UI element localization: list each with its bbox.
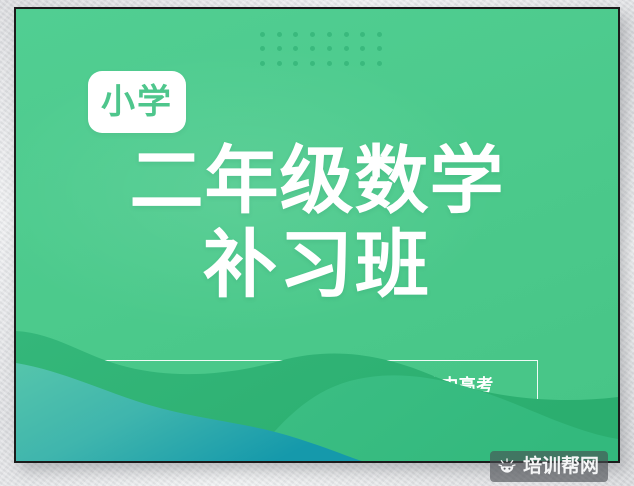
grid-dot xyxy=(260,32,265,37)
grid-dot xyxy=(377,32,382,37)
level-badge-label: 小学 xyxy=(101,85,173,119)
grid-dot xyxy=(360,46,365,51)
grid-dot xyxy=(310,32,315,37)
grid-dot xyxy=(377,61,382,66)
grid-dot xyxy=(327,61,332,66)
dot-grid-decoration xyxy=(254,27,388,71)
grid-dot xyxy=(260,46,265,51)
watermark: 培训帮网 xyxy=(490,451,608,482)
headline-line-1: 二年级数学 xyxy=(16,143,618,218)
grid-dot xyxy=(277,46,282,51)
grid-dot xyxy=(360,32,365,37)
grid-dot xyxy=(293,46,298,51)
grid-dot xyxy=(260,61,265,66)
grid-dot xyxy=(327,32,332,37)
watermark-text: 培训帮网 xyxy=(523,457,599,476)
grid-dot xyxy=(310,46,315,51)
grid-dot xyxy=(277,32,282,37)
sun-face-icon xyxy=(497,457,517,477)
level-badge: 小学 xyxy=(88,71,186,133)
grid-dot xyxy=(360,61,365,66)
grid-dot xyxy=(277,61,282,66)
poster-frame: 小学 二年级数学 补习班 本地优质师资匹配 教研专注中高考 xyxy=(14,7,620,463)
grid-dot xyxy=(310,61,315,66)
grid-dot xyxy=(327,46,332,51)
grid-dot xyxy=(377,46,382,51)
headline-line-2: 补习班 xyxy=(16,222,618,307)
poster-canvas: 小学 二年级数学 补习班 本地优质师资匹配 教研专注中高考 xyxy=(16,9,618,461)
wave-decoration xyxy=(16,331,618,461)
grid-dot xyxy=(344,32,349,37)
grid-dot xyxy=(344,61,349,66)
page-title: 二年级数学 补习班 xyxy=(16,143,618,308)
grid-dot xyxy=(293,32,298,37)
grid-dot xyxy=(344,46,349,51)
grid-dot xyxy=(293,61,298,66)
wave-svg xyxy=(16,331,618,461)
